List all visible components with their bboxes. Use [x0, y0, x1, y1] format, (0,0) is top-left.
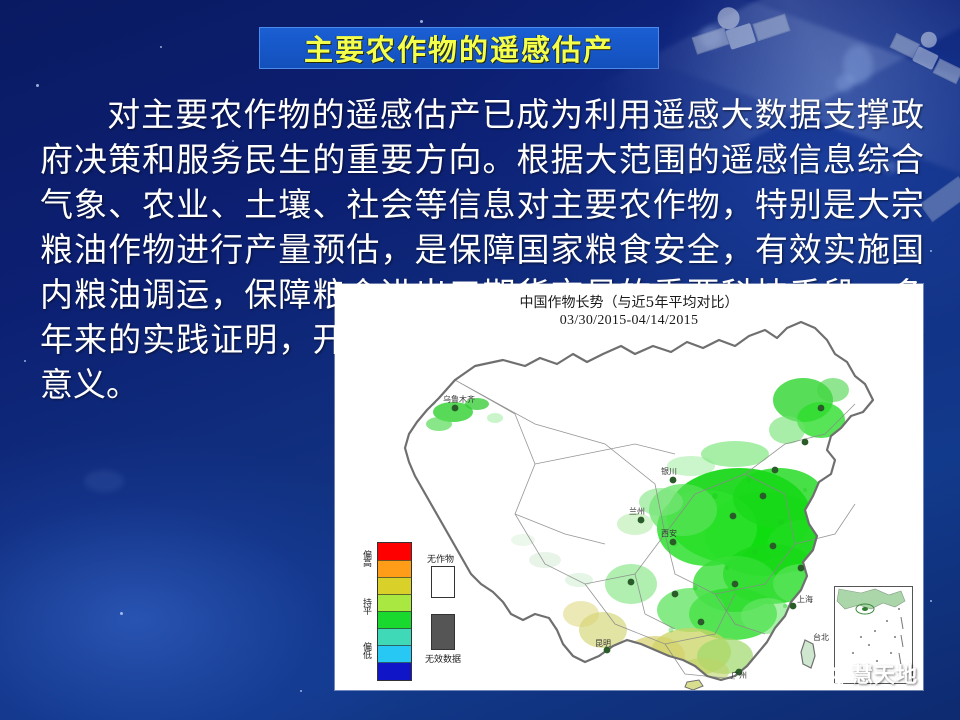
city-label: 兰州: [629, 506, 645, 516]
city-label: 银川: [661, 466, 677, 476]
watermark-text: 慧天地: [852, 659, 918, 689]
satellite-icon: [686, 0, 799, 85]
city-label: 西安: [661, 528, 677, 538]
city-label: 广州: [731, 670, 747, 680]
legend-label-no-data: 无效数据: [425, 652, 461, 665]
star: [24, 360, 26, 362]
map-legend: 偏高 持平 偏低 无作物 无效数据: [355, 542, 495, 682]
star: [160, 46, 162, 48]
legend-swatch-no-data: [431, 614, 455, 650]
star: [930, 600, 932, 602]
city-label: 上海: [797, 594, 813, 604]
light-blob: [836, 74, 854, 92]
page-title: 主要农作物的遥感估产: [304, 27, 614, 69]
city-label: 昆明: [595, 639, 611, 648]
legend-colorbar: [377, 542, 412, 681]
legend-label-low: 偏低: [357, 642, 373, 658]
legend-swatch-no-crop: [431, 566, 455, 598]
star: [300, 690, 302, 692]
slide-title-box: 主要农作物的遥感估产: [259, 27, 659, 69]
watermark: 慧天地: [812, 655, 918, 693]
slide-canvas: 主要农作物的遥感估产 对主要农作物的遥感估产已成为利用遥感大数据支撑政府决策和服…: [0, 0, 960, 720]
legend-label-high: 偏高: [357, 550, 373, 566]
hainan-outline: [685, 680, 703, 690]
light-blob: [700, 26, 722, 48]
legend-label-mid: 持平: [357, 598, 373, 614]
star: [930, 250, 932, 252]
star: [36, 84, 39, 87]
wechat-icon: [812, 661, 846, 687]
star: [120, 612, 123, 615]
star: [420, 20, 423, 23]
crop-condition-map-figure: 中国作物长势（与近5年平均对比） 03/30/2015-04/14/2015: [335, 284, 923, 690]
satellite-icon: [879, 17, 960, 102]
light-blob: [84, 470, 124, 492]
city-label: 台北: [813, 632, 829, 642]
light-blob: [843, 45, 873, 85]
city-label: 乌鲁木齐: [443, 394, 475, 404]
legend-label-no-crop: 无作物: [427, 552, 454, 565]
